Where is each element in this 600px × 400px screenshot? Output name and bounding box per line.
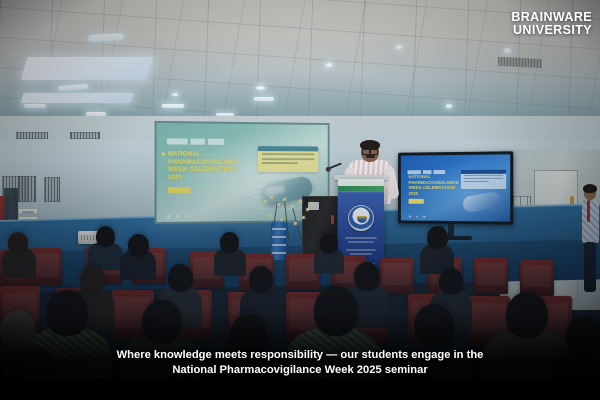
ceiling-panel-light (21, 57, 154, 80)
audience-head (314, 286, 358, 336)
brand-line-2: UNIVERSITY (511, 24, 592, 37)
tv-cta-chip (408, 199, 423, 204)
flower-blossom (268, 214, 271, 217)
cabinet-indicator-icon (331, 215, 334, 224)
flower-blossom (302, 216, 305, 219)
flower-blossom (277, 203, 280, 206)
tv-slide-footer (408, 215, 425, 218)
audience-head (8, 232, 28, 254)
ceiling-downlight (396, 45, 402, 49)
vase-rib (272, 228, 286, 230)
tv-footer-icon (408, 215, 410, 217)
ceiling-downlight (172, 93, 178, 96)
flower-blossom (280, 218, 283, 221)
flower-blossom (291, 205, 294, 208)
attendee-hair (583, 184, 597, 193)
audience-head (128, 234, 149, 257)
audience-head (80, 266, 105, 294)
slide-logo (167, 132, 227, 151)
attendee-scarf (587, 200, 590, 222)
ceiling (0, 0, 600, 128)
flower-blossom (270, 196, 273, 199)
slide-info-card (258, 146, 318, 172)
slide-footer-icon (176, 214, 179, 217)
caption-line-2: National Pharmacovigilance Week 2025 sem… (0, 363, 600, 378)
ceiling-downlight (504, 48, 511, 53)
audience-head (414, 304, 454, 348)
ceiling-tube-light (162, 104, 184, 108)
brainware-university-watermark: BRAINWARE UNIVERSITY (511, 11, 592, 37)
tv-info-card (461, 170, 506, 189)
slide-card-line (262, 158, 315, 160)
flower-blossom (264, 200, 267, 203)
audience-head (0, 310, 36, 350)
tv-footer-icon (423, 215, 425, 217)
audience-head (439, 268, 463, 295)
slide-card-line (262, 162, 298, 164)
wall-air-grille (18, 176, 36, 202)
university-seal-icon (348, 205, 374, 231)
caption-line-1: Where knowledge meets responsibility — o… (0, 348, 600, 363)
photo-caption: Where knowledge meets responsibility — o… (0, 348, 600, 378)
audience-head (142, 300, 182, 344)
wall-sign (18, 208, 38, 214)
audience-head (320, 234, 338, 254)
audience-head (506, 292, 548, 338)
tv-card-line (464, 175, 503, 177)
tv-capsule-graphic (462, 191, 502, 213)
tv-card-line (464, 178, 503, 180)
wall-air-grille (16, 132, 48, 139)
auditorium-chair (474, 258, 508, 294)
ceiling-downlight (256, 86, 265, 90)
tv-footer-icon (416, 215, 418, 217)
ceiling-tube-light (24, 104, 46, 108)
speaker-glasses-icon (362, 148, 378, 152)
auditorium-chair (380, 258, 414, 294)
flower-blossom (306, 208, 309, 211)
wall-air-grille (44, 177, 60, 202)
wall-mounted-tv: NATIONAL PHARMACOVIGILANCE WEEK CELEBRAT… (398, 151, 513, 224)
slide-footer-icon (185, 214, 188, 217)
audience-head (96, 226, 115, 247)
flower-blossom (283, 198, 286, 201)
auditorium-chair (520, 260, 554, 296)
ceiling-panel-light (20, 93, 133, 103)
ceiling-downlight (446, 104, 452, 108)
tv-card-line (464, 181, 489, 182)
wall-air-grille (70, 132, 100, 139)
flower-blossom (310, 202, 313, 205)
audience-head (220, 232, 239, 253)
audience-head (427, 226, 448, 249)
podium-banner-strip (338, 186, 384, 191)
audience-head (46, 290, 88, 336)
photo-canvas: NATIONAL PHARMACOVIGILANCE WEEK CELEBRAT… (0, 0, 600, 400)
slide-bullet-icon (162, 153, 165, 156)
tv-card-heading (461, 170, 506, 174)
slide-title: NATIONAL PHARMACOVIGILANCE WEEK CELEBRAT… (168, 151, 247, 182)
ceiling-tube-light (254, 97, 274, 101)
speaker-moustache (366, 155, 375, 158)
audience-head (249, 266, 273, 293)
tv-slide: NATIONAL PHARMACOVIGILANCE WEEK CELEBRAT… (401, 154, 510, 221)
slide-footer-icon (167, 214, 170, 217)
ceiling-downlight (326, 63, 332, 67)
flower-blossom (294, 222, 297, 225)
audience-head (354, 262, 380, 291)
slide-cta-chip (168, 187, 191, 193)
tv-slide-title: NATIONAL PHARMACOVIGILANCE WEEK CELEBRAT… (408, 174, 455, 196)
audience-head (168, 264, 193, 292)
flower-blossom (299, 200, 302, 203)
slide-card-heading (258, 146, 318, 151)
slide-card-line (262, 153, 315, 155)
